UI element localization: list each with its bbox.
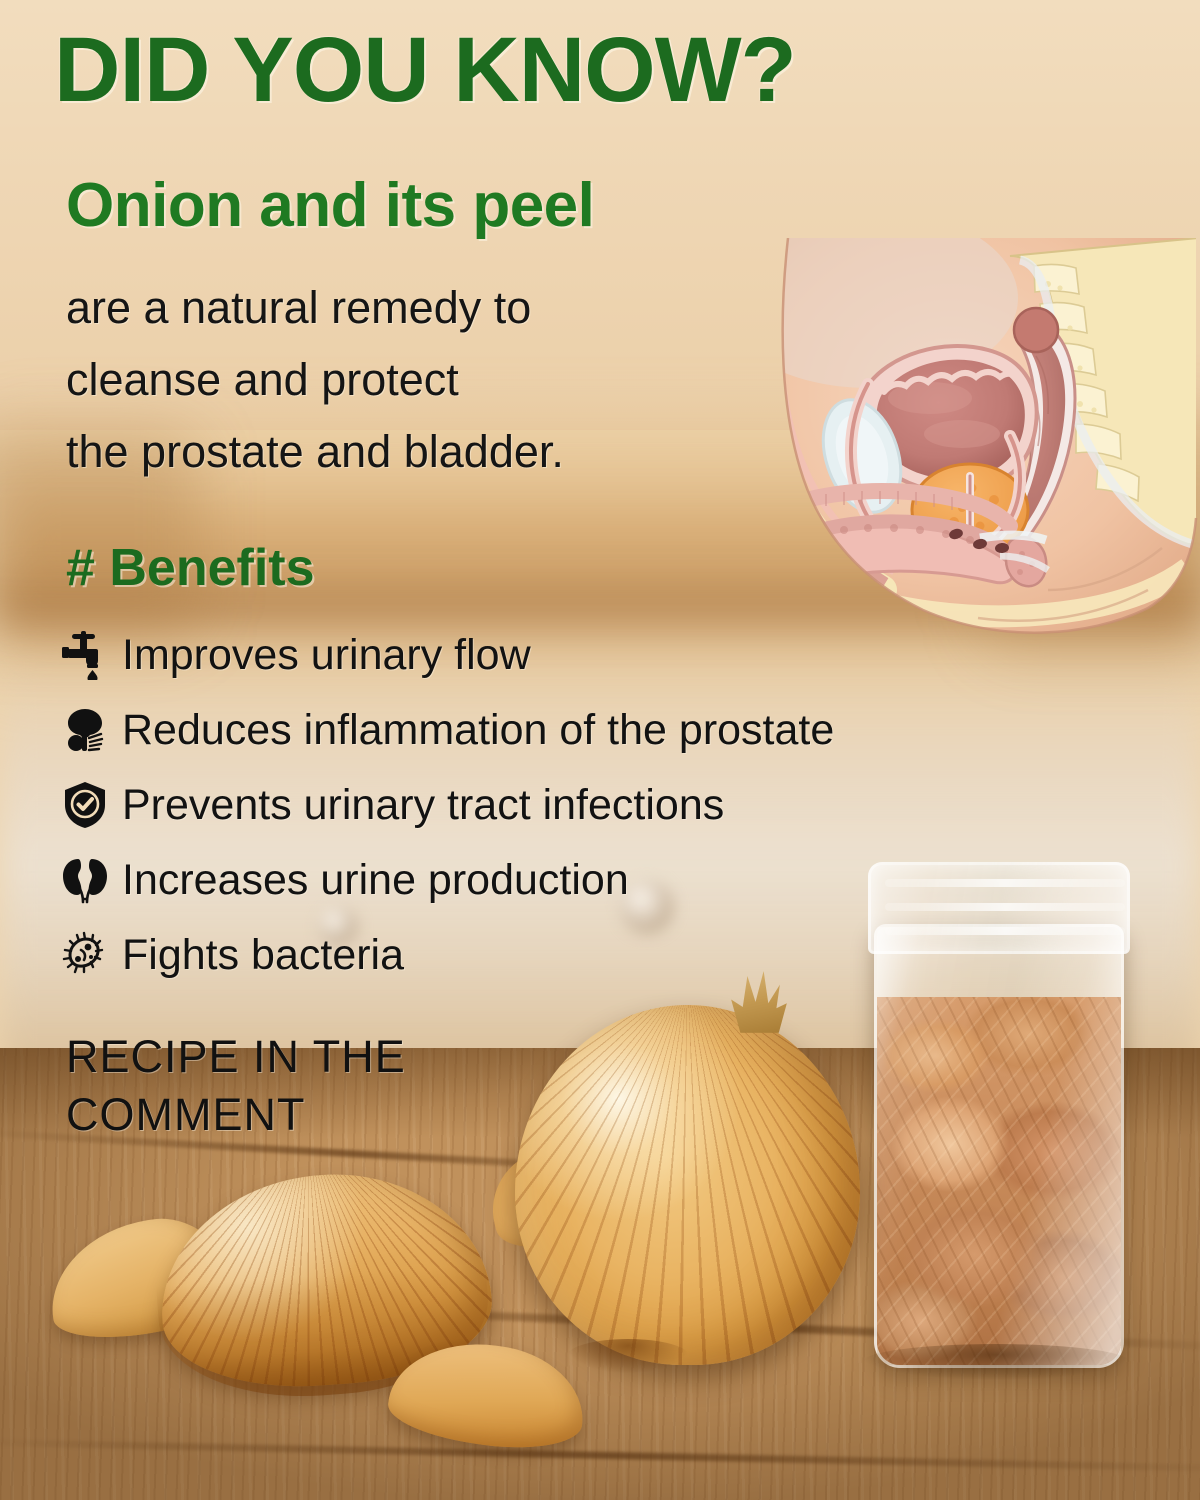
benefits-heading: # Benefits xyxy=(66,538,315,598)
benefits-list: Improves urinary flow Reduces inflammati… xyxy=(58,624,1068,999)
bladder-prostate-icon xyxy=(58,703,112,757)
benefit-label: Improves urinary flow xyxy=(122,631,531,680)
kidneys-icon xyxy=(58,853,112,907)
subheading: Onion and its peel xyxy=(66,170,594,241)
benefit-label: Fights bacteria xyxy=(122,931,404,980)
bacteria-icon xyxy=(58,928,112,982)
pelvic-anatomy-diagram xyxy=(748,238,1198,638)
onion-skin-lines xyxy=(515,1005,860,1365)
shield-check-icon xyxy=(58,778,112,832)
benefit-label: Increases urine production xyxy=(122,856,629,905)
benefit-label: Reduces inflammation of the prostate xyxy=(122,706,834,755)
benefit-item-uti-prevention: Prevents urinary tract infections xyxy=(58,774,1068,836)
lede-line-2: cleanse and protect xyxy=(66,344,564,416)
lede-paragraph: are a natural remedy to cleanse and prot… xyxy=(66,272,564,488)
page-title: DID YOU KNOW? xyxy=(54,18,796,123)
lede-line-3: the prostate and bladder. xyxy=(66,416,564,488)
faucet-drop-icon xyxy=(58,628,112,682)
onion-root xyxy=(567,1339,689,1373)
lede-line-1: are a natural remedy to xyxy=(66,272,564,344)
cta-line-2: COMMENT xyxy=(66,1086,406,1144)
benefit-label: Prevents urinary tract infections xyxy=(122,781,724,830)
cta-line-1: RECIPE IN THE xyxy=(66,1028,406,1086)
jar-onion-peels xyxy=(877,997,1121,1365)
call-to-action: RECIPE IN THE COMMENT xyxy=(66,1028,406,1143)
infographic-poster: DID YOU KNOW? Onion and its peel are a n… xyxy=(0,0,1200,1500)
whole-onion xyxy=(515,1005,860,1365)
benefit-item-urine-production: Increases urine production xyxy=(58,849,1068,911)
benefit-item-fights-bacteria: Fights bacteria xyxy=(58,924,1068,986)
benefit-item-urinary-flow: Improves urinary flow xyxy=(58,624,1068,686)
benefit-item-prostate-inflammation: Reduces inflammation of the prostate xyxy=(58,699,1068,761)
jar-base-shadow xyxy=(862,1344,1130,1380)
